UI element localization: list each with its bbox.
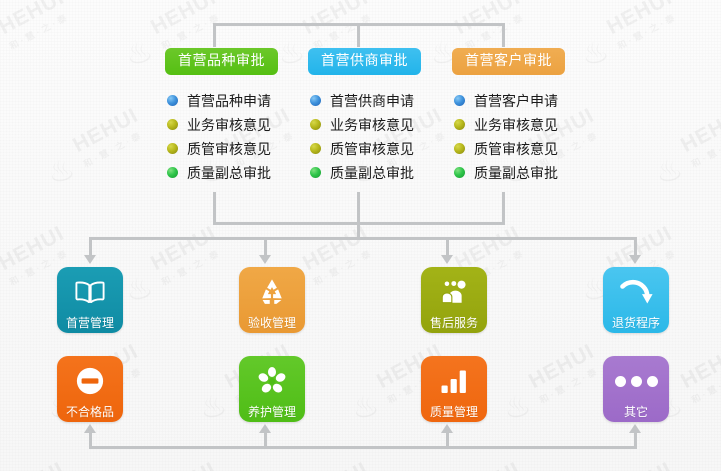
arrow-down-icon	[259, 255, 271, 264]
flower-icon	[239, 365, 305, 397]
ellipsis-icon	[603, 365, 669, 397]
tile-label: 养护管理	[248, 406, 296, 418]
list-item[interactable]: 质管审核意见	[452, 137, 597, 160]
list-item[interactable]: 首营供商申请	[308, 89, 453, 112]
approval-column-supplier: 首营供商审批 首营供商申请 业务审核意见 质管审核意见 质量副总审批	[308, 48, 453, 185]
approval-item-list-customer: 首营客户申请 业务审核意见 质管审核意见 质量副总审批	[452, 89, 597, 184]
mid-stub-left	[213, 192, 216, 222]
arrow-up-icon	[629, 424, 641, 433]
distribution-drop-4	[634, 237, 637, 255]
book-icon	[57, 276, 123, 308]
tile-after-sales-service[interactable]: 售后服务	[421, 267, 487, 333]
distribution-bar	[89, 237, 637, 240]
approval-item-list-product: 首营品种申请 业务审核意见 质管审核意见 质量副总审批	[165, 89, 310, 184]
list-item-label: 首营供商申请	[330, 91, 414, 111]
return-riser-3	[446, 432, 449, 448]
tile-maintenance-management[interactable]: 养护管理	[239, 356, 305, 422]
recycle-icon	[239, 276, 305, 308]
ellipsis-dots	[615, 376, 658, 387]
list-item-label: 质管审核意见	[187, 139, 271, 159]
list-item-label: 业务审核意见	[474, 115, 558, 135]
tile-label: 质量管理	[430, 406, 478, 418]
arrow-down-icon	[84, 255, 96, 264]
list-item-label: 首营客户申请	[474, 91, 558, 111]
arrow-up-icon	[84, 424, 96, 433]
list-item-label: 质管审核意见	[474, 139, 558, 159]
list-item[interactable]: 首营品种申请	[165, 89, 310, 112]
bullet-olive-icon	[167, 143, 178, 154]
top-bracket-mid-stub	[357, 23, 360, 47]
bullet-blue-icon	[310, 95, 321, 106]
bullet-green-icon	[167, 167, 178, 178]
list-item-label: 质量副总审批	[330, 163, 414, 183]
bullet-green-icon	[454, 167, 465, 178]
list-item[interactable]: 质管审核意见	[308, 137, 453, 160]
people-icon	[421, 276, 487, 308]
list-item[interactable]: 质管审核意见	[165, 137, 310, 160]
arrow-up-icon	[441, 424, 453, 433]
distribution-drop-3	[446, 237, 449, 255]
list-item[interactable]: 业务审核意见	[165, 113, 310, 136]
top-bracket-left-stub	[213, 23, 216, 47]
approval-header-supplier[interactable]: 首营供商审批	[308, 48, 421, 75]
tile-label: 售后服务	[430, 317, 478, 329]
approval-header-product[interactable]: 首营品种审批	[165, 48, 278, 75]
list-item[interactable]: 业务审核意见	[452, 113, 597, 136]
tile-quality-management[interactable]: 质量管理	[421, 356, 487, 422]
approval-column-product: 首营品种审批 首营品种申请 业务审核意见 质管审核意见 质量副总审批	[165, 48, 310, 185]
tile-return-procedure[interactable]: 退货程序	[603, 267, 669, 333]
bullet-olive-icon	[167, 119, 178, 130]
list-item-label: 首营品种申请	[187, 91, 271, 111]
distribution-drop-2	[264, 237, 267, 255]
tile-other[interactable]: 其它	[603, 356, 669, 422]
tile-label: 不合格品	[66, 406, 114, 418]
bullet-blue-icon	[167, 95, 178, 106]
approval-header-customer[interactable]: 首营客户审批	[452, 48, 565, 75]
top-bracket-right-stub	[502, 23, 505, 47]
tile-label: 验收管理	[248, 317, 296, 329]
tile-label: 首营管理	[66, 317, 114, 329]
list-item-label: 质量副总审批	[187, 163, 271, 183]
tile-label: 其它	[624, 406, 648, 418]
approval-column-customer: 首营客户审批 首营客户申请 业务审核意见 质管审核意见 质量副总审批	[452, 48, 597, 185]
bullet-olive-icon	[454, 119, 465, 130]
list-item-label: 质量副总审批	[474, 163, 558, 183]
mid-stub-right	[502, 192, 505, 222]
return-arrow-icon	[603, 276, 669, 308]
list-item-label: 质管审核意见	[330, 139, 414, 159]
tile-first-operation-management[interactable]: 首营管理	[57, 267, 123, 333]
tile-nonconforming-products[interactable]: 不合格品	[57, 356, 123, 422]
return-riser-2	[264, 432, 267, 448]
list-item-label: 业务审核意见	[330, 115, 414, 135]
bullet-olive-icon	[454, 143, 465, 154]
minus-circle-icon	[57, 365, 123, 397]
mid-bracket-drop	[357, 222, 360, 237]
mid-stub-center	[357, 192, 360, 222]
list-item[interactable]: 业务审核意见	[308, 113, 453, 136]
arrow-up-icon	[259, 424, 271, 433]
distribution-drop-1	[89, 237, 92, 255]
list-item[interactable]: 质量副总审批	[308, 161, 453, 184]
diagram-canvas: 首营品种审批 首营品种申请 业务审核意见 质管审核意见 质量副总审批 首营供商审…	[0, 0, 721, 471]
arrow-down-icon	[629, 255, 641, 264]
list-item-label: 业务审核意见	[187, 115, 271, 135]
tile-acceptance-management[interactable]: 验收管理	[239, 267, 305, 333]
bar-chart-icon	[421, 365, 487, 397]
bullet-green-icon	[310, 167, 321, 178]
bullet-olive-icon	[310, 143, 321, 154]
arrow-down-icon	[441, 255, 453, 264]
return-bar	[89, 446, 637, 449]
list-item[interactable]: 首营客户申请	[452, 89, 597, 112]
tile-label: 退货程序	[612, 317, 660, 329]
approval-item-list-supplier: 首营供商申请 业务审核意见 质管审核意见 质量副总审批	[308, 89, 453, 184]
list-item[interactable]: 质量副总审批	[165, 161, 310, 184]
return-riser-1	[89, 432, 92, 448]
list-item[interactable]: 质量副总审批	[452, 161, 597, 184]
bullet-blue-icon	[454, 95, 465, 106]
bullet-olive-icon	[310, 119, 321, 130]
return-riser-4	[634, 432, 637, 448]
